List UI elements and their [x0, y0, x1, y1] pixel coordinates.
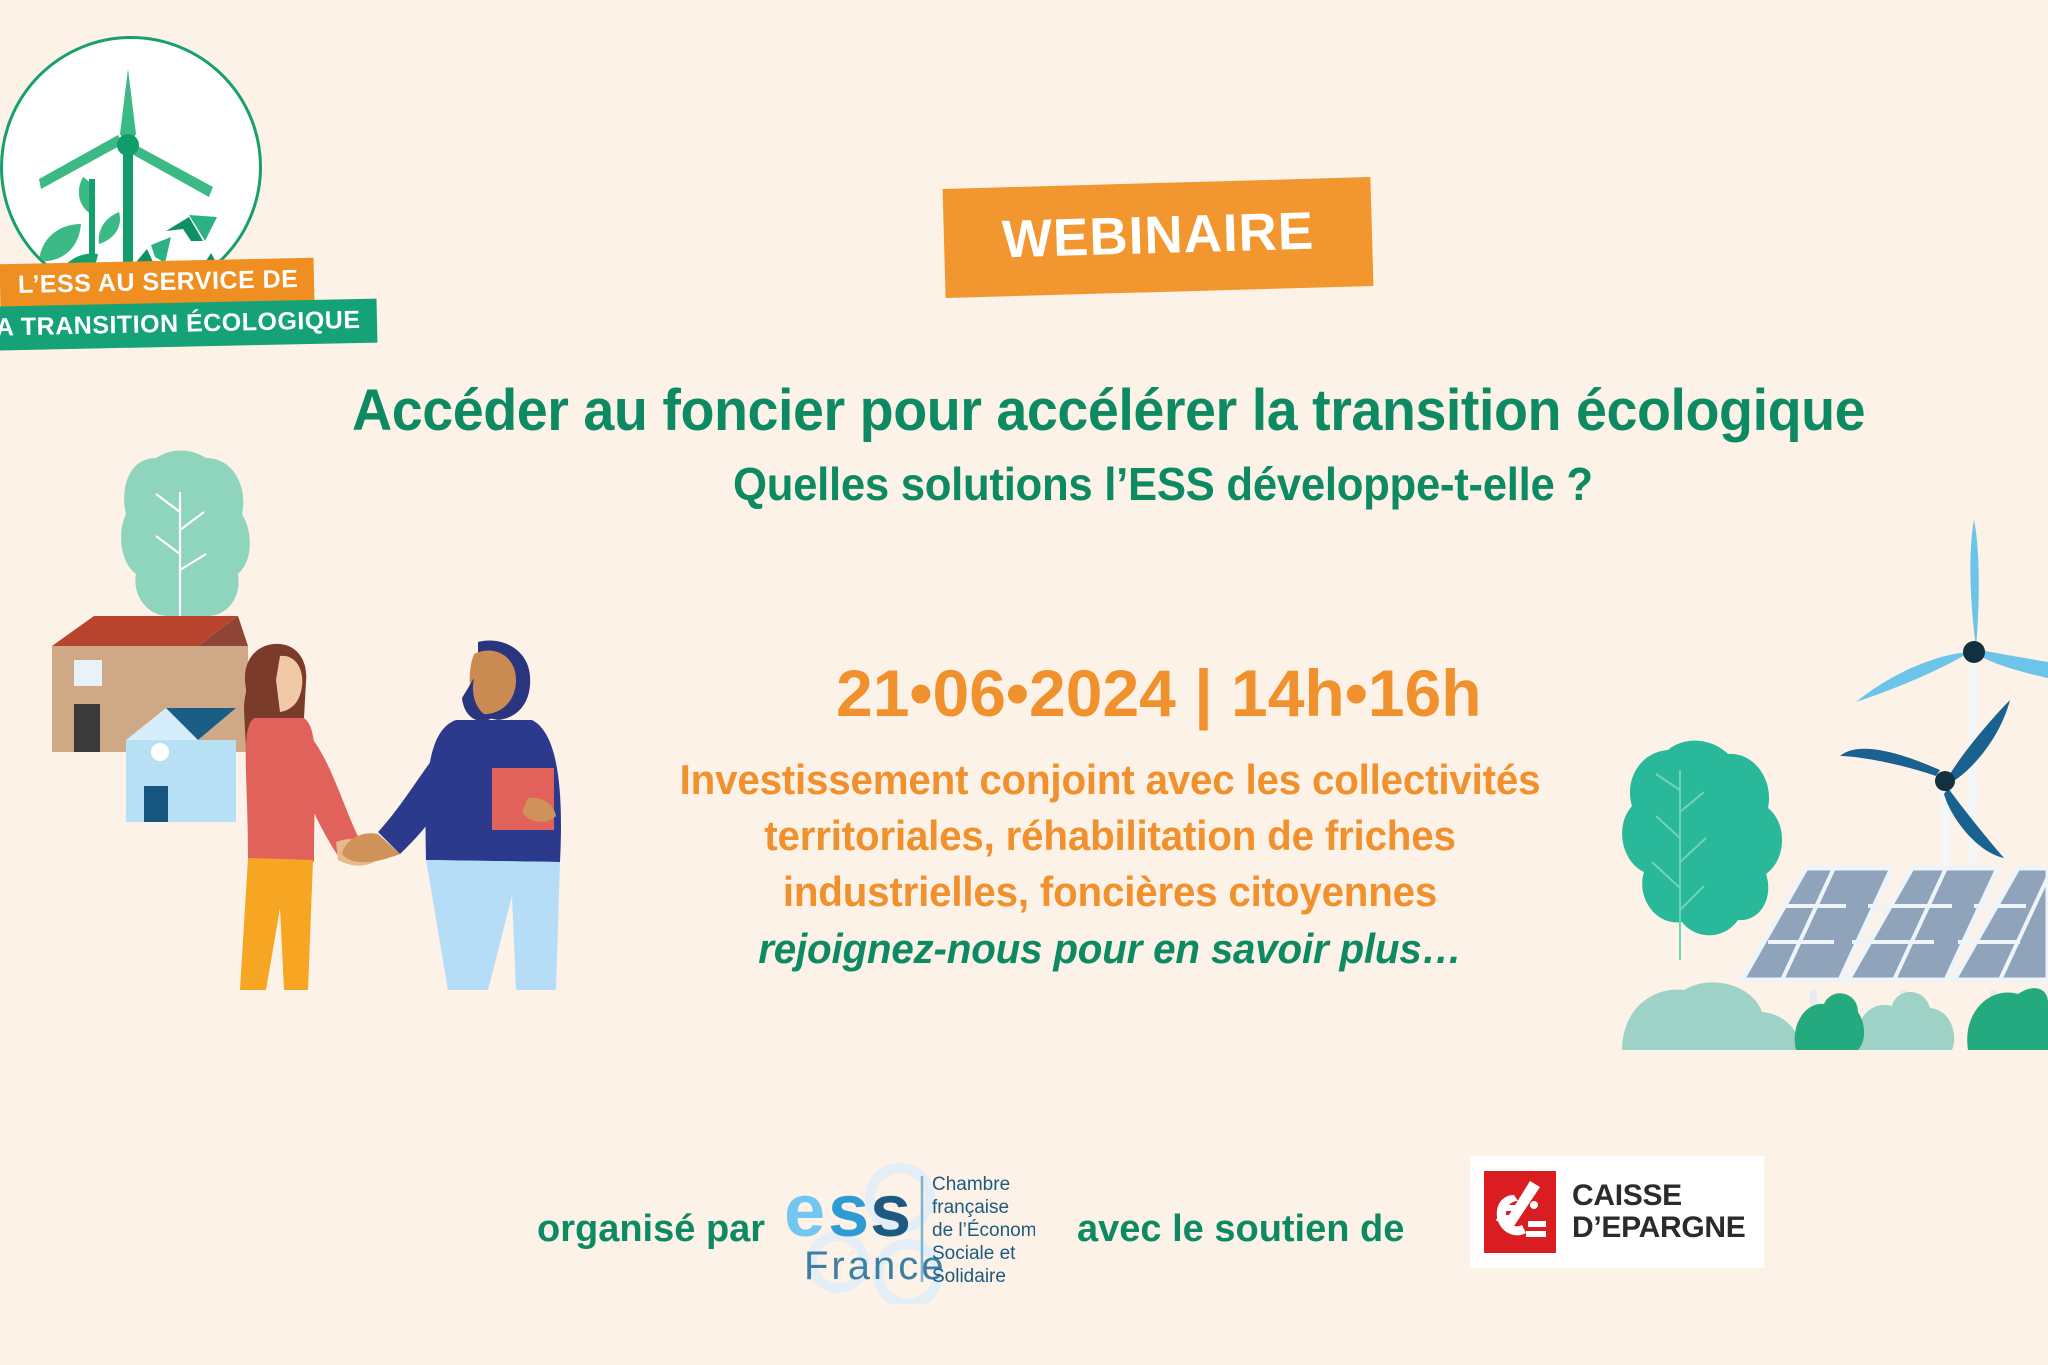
organiser-label: organisé par [537, 1208, 765, 1251]
logo-banner-line2: LA TRANSITION ÉCOLOGIQUE [0, 299, 377, 352]
tree-icon [1622, 741, 1782, 960]
bushes-icon [1622, 982, 2048, 1050]
ess-tagline-4: Sociale et [932, 1243, 1016, 1264]
ess-letter-s2: s [870, 1169, 911, 1252]
man-figure [342, 640, 561, 990]
ess-letter-e: e [784, 1169, 825, 1252]
tree-icon [121, 451, 250, 621]
ess-letter-s1: s [828, 1169, 869, 1252]
webinar-poster: L’ESS AU SERVICE DE LA TRANSITION ÉCOLOG… [0, 0, 2048, 1365]
ess-tagline-1: Chambre [932, 1174, 1010, 1195]
wind-turbine-light-blue-icon [1856, 520, 2048, 898]
description-line-2: territoriales, réhabilitation de friches [659, 808, 1561, 864]
supporter-label: avec le soutien de [1077, 1208, 1404, 1251]
page-subtitle: Quelles solutions l’ESS développe-t-elle… [733, 457, 1593, 511]
event-datetime: 21•06•2024 | 14h•16h [836, 655, 1482, 731]
ce-line-1: CAISSE [1572, 1180, 1745, 1212]
logo-artwork [3, 39, 259, 295]
caisse-epargne-logo: CAISSE D’EPARGNE [1470, 1156, 1764, 1268]
ce-line-2: D’EPARGNE [1572, 1212, 1745, 1244]
description-line-1: Investissement conjoint avec les collect… [659, 752, 1561, 808]
description-line-3: industrielles, foncières citoyennes [659, 864, 1561, 920]
ess-tagline-3: de l’Économi [932, 1220, 1035, 1241]
ess-france-word: France [804, 1244, 947, 1288]
woman-figure [240, 644, 382, 990]
caisse-epargne-wordmark: CAISSE D’EPARGNE [1572, 1180, 1745, 1244]
ess-transition-logo: L’ESS AU SERVICE DE LA TRANSITION ÉCOLOG… [0, 36, 282, 336]
wind-turbine-icon [39, 69, 213, 289]
event-description: Investissement conjoint avec les collect… [640, 752, 1580, 978]
ess-tagline-5: Solidaire [932, 1266, 1006, 1287]
description-cta: rejoignez-nous pour en savoir plus… [659, 920, 1561, 978]
handshake-houses-illustration [8, 430, 608, 1030]
footer: organisé par e s s France Chambre frança… [0, 1168, 2048, 1298]
ess-france-logo: e s s France Chambre française de l’Écon… [780, 1154, 1035, 1304]
ess-tagline-2: française [932, 1197, 1009, 1218]
renewable-energy-illustration [1600, 490, 2048, 1050]
webinaire-badge: WEBINAIRE [943, 177, 1374, 298]
euro-squirrel-icon [1484, 1171, 1556, 1253]
